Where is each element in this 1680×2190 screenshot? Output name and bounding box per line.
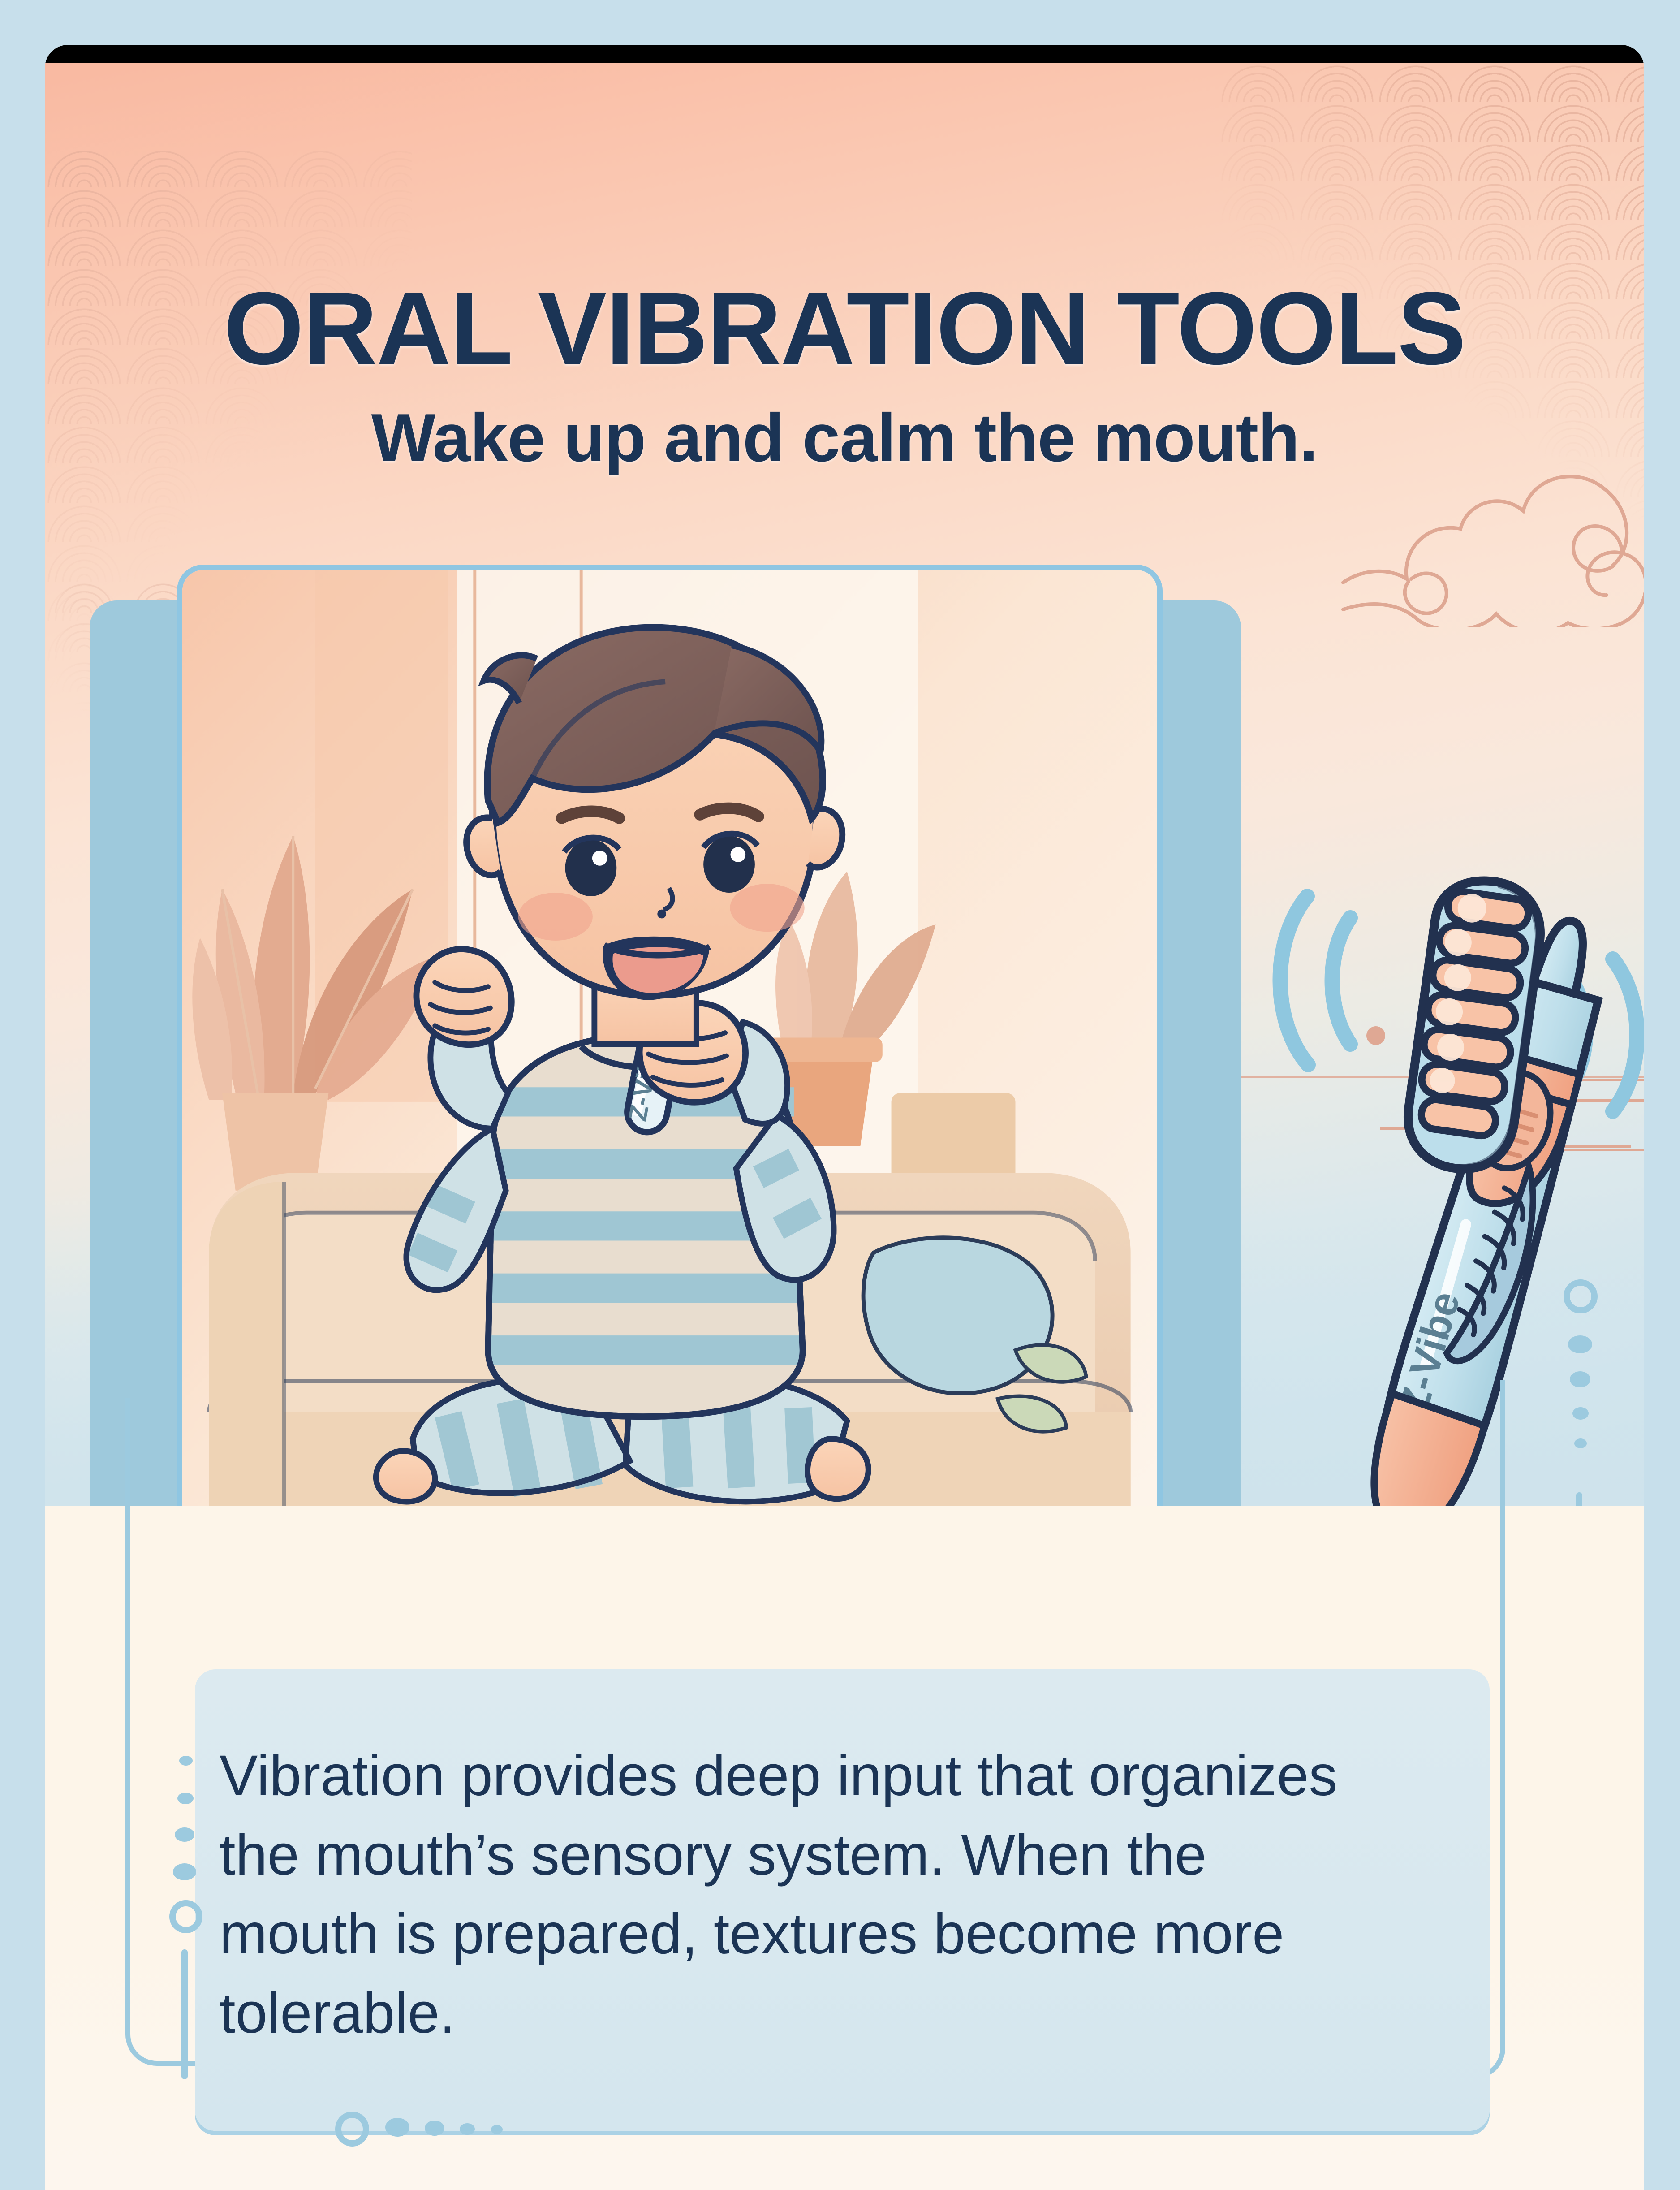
decor-dot-right-1	[1568, 1335, 1592, 1353]
decor-dot-bottom-2	[425, 2121, 444, 2136]
decor-dot-bottom-4	[491, 2125, 503, 2134]
vibration-arc-left	[1280, 896, 1350, 1065]
decor-dot-left-4	[173, 1863, 196, 1880]
decor-ring-right	[1564, 1279, 1598, 1313]
decor-dot-bottom-1	[385, 2118, 409, 2137]
page-title: ORAL VIBRATION TOOLS	[45, 269, 1644, 388]
decor-dot-right-2	[1570, 1371, 1590, 1387]
decor-vline-left	[181, 1949, 188, 2079]
decor-dot-bottom-3	[460, 2123, 475, 2135]
decor-ring-bottom	[335, 2112, 369, 2147]
poster-card: ORAL VIBRATION TOOLS Wake up and calm th…	[45, 45, 1644, 2190]
decor-dot-right-4	[1574, 1438, 1587, 1448]
body-text: Vibration provides deep input that organ…	[220, 1736, 1340, 2053]
top-black-bar	[45, 45, 1644, 63]
decor-dot-left-2	[177, 1793, 194, 1804]
decor-dot-right-3	[1572, 1407, 1589, 1420]
page-subtitle: Wake up and calm the mouth.	[45, 399, 1644, 477]
decor-dot-left-3	[175, 1827, 194, 1842]
decor-dot-left-1	[179, 1756, 193, 1766]
decor-ring-left	[169, 1900, 202, 1933]
